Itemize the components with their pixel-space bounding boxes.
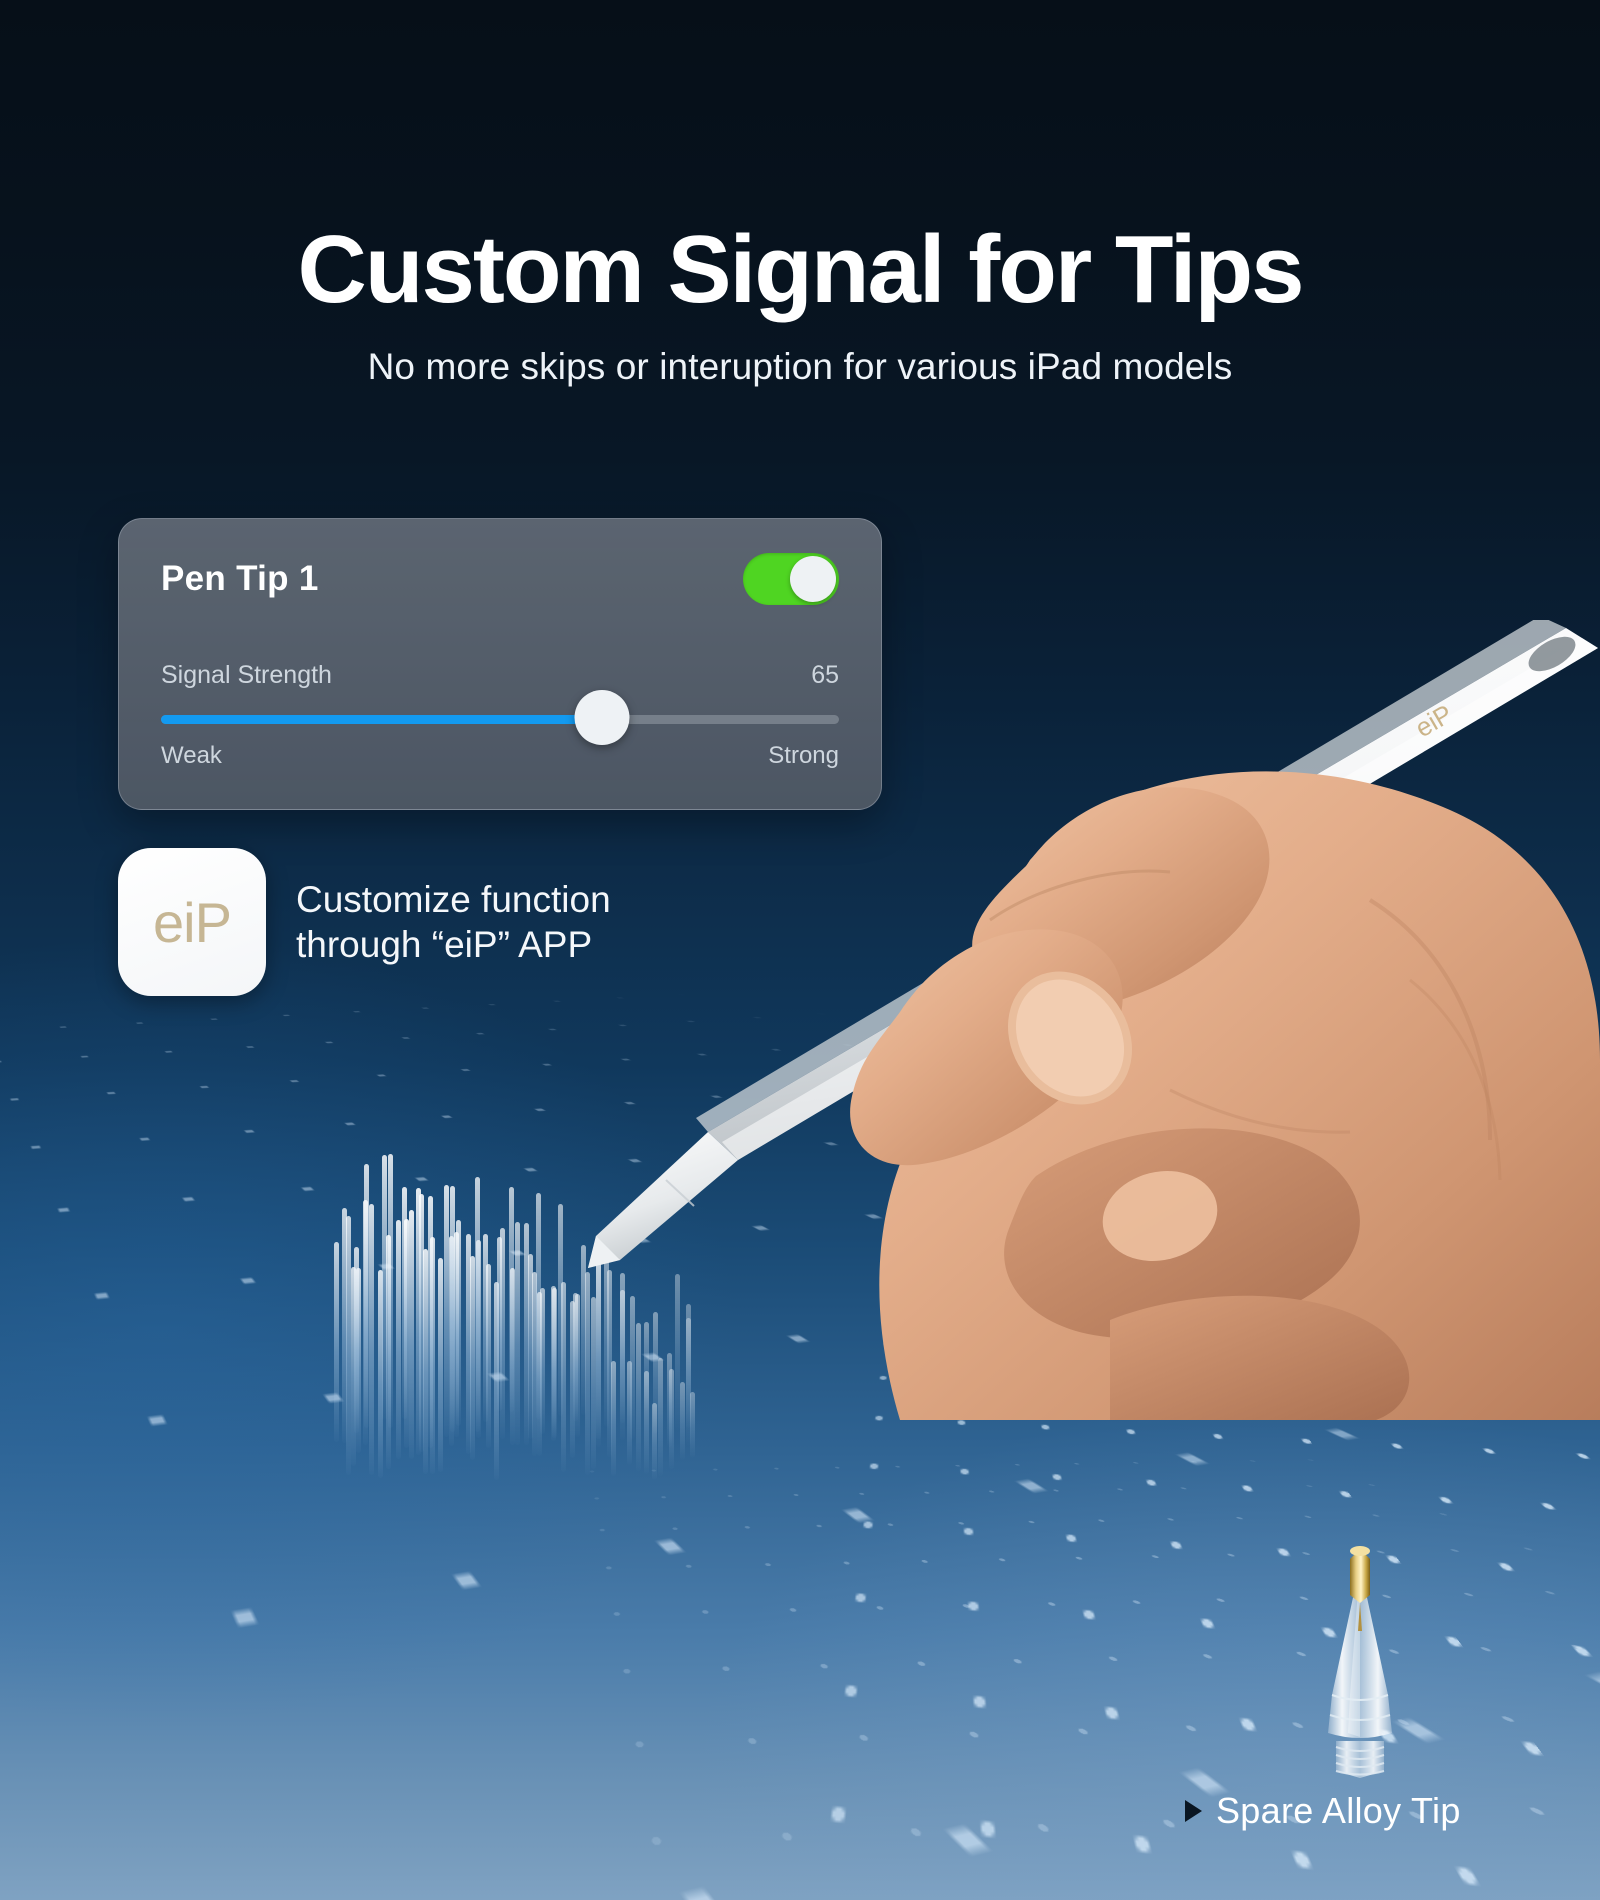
- dot-mesh-center: [560, 1449, 1600, 1900]
- pen-brand-mark: eiP: [1410, 698, 1458, 743]
- slider-range-labels: Weak Strong: [161, 742, 839, 770]
- page-subtitle: No more skips or interuption for various…: [0, 346, 1600, 388]
- app-callout-line2: through “eiP” APP: [296, 922, 611, 967]
- pen-tip-power-toggle[interactable]: [743, 553, 839, 605]
- signal-strength-slider[interactable]: [161, 712, 839, 726]
- spare-tip-caption: Spare Alloy Tip: [1185, 1790, 1461, 1832]
- triangle-right-icon: [1185, 1800, 1202, 1822]
- app-callout: eiP Customize function through “eiP” APP: [118, 848, 611, 996]
- app-callout-line1: Customize function: [296, 877, 611, 922]
- slider-max-label: Strong: [768, 742, 839, 770]
- eip-logo-mark: eiP: [153, 890, 231, 955]
- slider-min-label: Weak: [161, 742, 222, 770]
- card-header: Pen Tip 1: [161, 553, 839, 605]
- slider-thumb-handle[interactable]: [574, 690, 629, 745]
- spare-alloy-tip-image: [1290, 1545, 1430, 1785]
- spare-tip-label: Spare Alloy Tip: [1216, 1790, 1461, 1832]
- poster-canvas: eiP: [0, 0, 1600, 1900]
- background-glow-left: [0, 880, 820, 1780]
- slider-fill: [161, 715, 602, 724]
- eip-app-icon[interactable]: eiP: [118, 848, 266, 996]
- signal-strength-slider-block: Signal Strength 65 Weak Strong: [161, 661, 839, 770]
- hand: [850, 771, 1600, 1420]
- page-title: Custom Signal for Tips: [0, 222, 1600, 318]
- pen-tip-title: Pen Tip 1: [161, 559, 319, 599]
- header: Custom Signal for Tips No more skips or …: [0, 0, 1600, 388]
- signal-bars-visualization: [330, 1180, 710, 1480]
- signal-strength-label: Signal Strength: [161, 661, 332, 690]
- toggle-knob-icon: [790, 556, 836, 602]
- pen-tip-settings-card: Pen Tip 1 Signal Strength 65 Weak Strong: [118, 518, 882, 810]
- slider-header-row: Signal Strength 65: [161, 661, 839, 690]
- app-callout-text: Customize function through “eiP” APP: [296, 877, 611, 967]
- signal-strength-value: 65: [811, 661, 839, 690]
